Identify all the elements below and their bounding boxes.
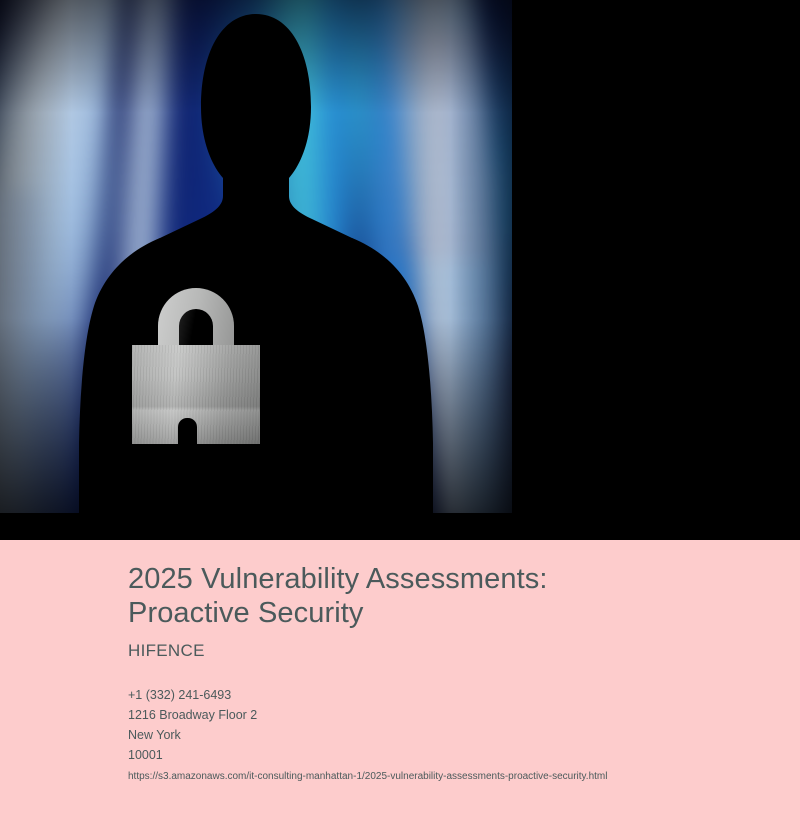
page-title: 2025 Vulnerability Assessments: Proactiv… (128, 562, 648, 630)
source-url[interactable]: https://s3.amazonaws.com/it-consulting-m… (128, 769, 800, 785)
padlock-keyhole (178, 418, 197, 444)
hero-photo (0, 0, 512, 513)
contact-street: 1216 Broadway Floor 2 (128, 705, 800, 725)
padlock-body (132, 345, 260, 444)
contact-postal-code: 10001 (128, 745, 800, 765)
brand-name: HIFENCE (128, 641, 800, 661)
padlock-icon (132, 288, 260, 446)
contact-city: New York (128, 725, 800, 745)
hero-banner (0, 0, 800, 540)
article-content: 2025 Vulnerability Assessments: Proactiv… (0, 540, 800, 785)
contact-phone[interactable]: +1 (332) 241-6493 (128, 685, 800, 705)
contact-block: +1 (332) 241-6493 1216 Broadway Floor 2 … (128, 685, 800, 765)
